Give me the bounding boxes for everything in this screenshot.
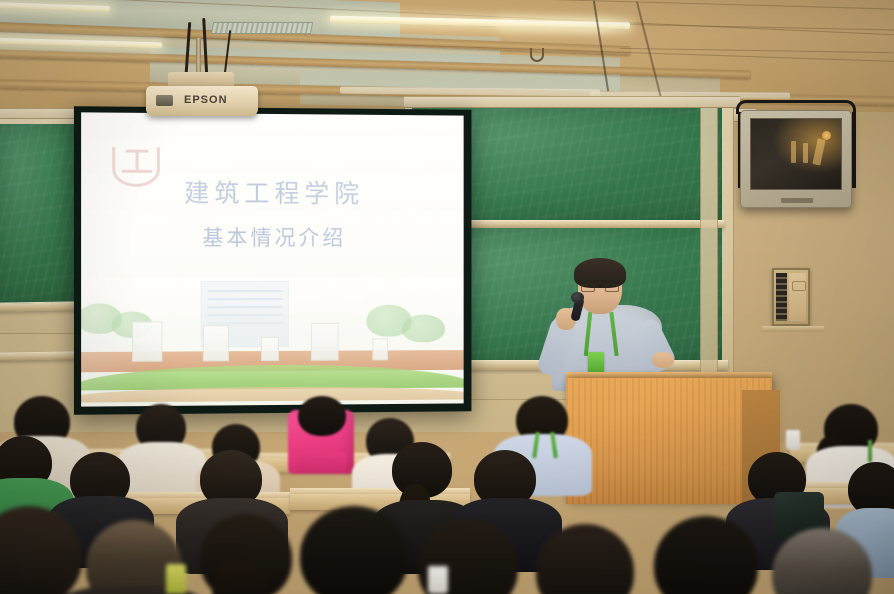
monitor-screen xyxy=(750,118,842,190)
presenter-hand-right xyxy=(652,352,674,368)
projector-brand-label: EPSON xyxy=(184,94,228,106)
wall-shelf xyxy=(762,326,824,332)
lanyard-strap xyxy=(868,440,872,462)
panel-switch-row[interactable] xyxy=(776,273,787,321)
chalkboard-right-rail xyxy=(700,100,718,400)
slide-campus-photo xyxy=(81,277,464,407)
presentation-slide: 建筑工程学院 基本情况介绍 xyxy=(81,112,464,406)
water-bottle xyxy=(166,564,186,594)
panel-marking-icon xyxy=(792,281,806,291)
monitor-brand-logo xyxy=(781,198,813,203)
chalk-ledge-left-lower xyxy=(0,351,84,361)
slide-footer-mark: © xyxy=(446,391,452,398)
presenter-badge xyxy=(588,352,604,374)
chalkboard-left xyxy=(0,124,80,304)
panel-face xyxy=(789,273,806,321)
ceiling-light xyxy=(500,21,610,29)
microphone-head-icon xyxy=(571,292,584,303)
backpack-pocket xyxy=(296,452,346,474)
wall-mounted-monitor[interactable] xyxy=(740,110,852,208)
slide-subtitle: 基本情况介绍 xyxy=(81,222,464,253)
chalk-ledge-left xyxy=(0,301,84,312)
projection-screen[interactable]: 建筑工程学院 基本情况介绍 xyxy=(74,106,472,415)
electrical-control-panel[interactable] xyxy=(772,268,810,326)
board-top-trim xyxy=(404,96,740,108)
projector-lens-icon xyxy=(156,95,173,106)
glasses-icon xyxy=(581,284,619,292)
projector[interactable]: EPSON xyxy=(146,86,258,116)
ceiling-hook xyxy=(530,48,544,62)
paper-cup xyxy=(786,430,800,450)
paper-cup xyxy=(428,566,448,594)
monitor-power-led-icon xyxy=(822,131,831,140)
slide-title: 建筑工程学院 xyxy=(81,173,464,211)
lecture-hall-scene: 建筑工程学院 基本情况介绍 xyxy=(0,0,894,594)
projection-screen-surface: 建筑工程学院 基本情况介绍 xyxy=(81,112,464,406)
air-vent xyxy=(211,22,314,34)
